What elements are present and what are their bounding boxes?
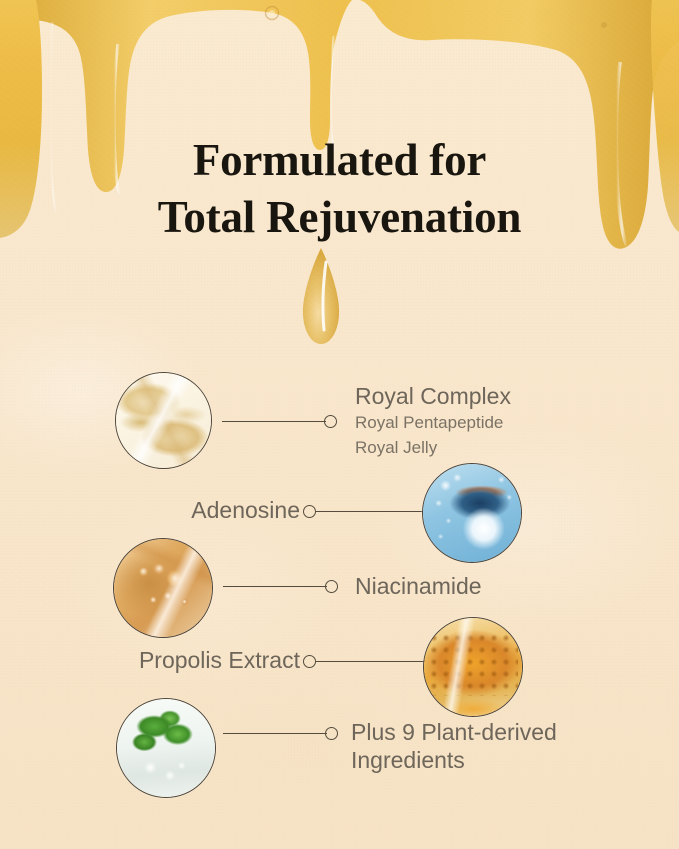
label-group-adenosine: Adenosine (118, 496, 300, 524)
label-group-plant-derived: Plus 9 Plant-derived Ingredients (351, 718, 557, 774)
label-group-royal-complex: Royal Complex Royal Pentapeptide Royal J… (355, 382, 511, 460)
connector-plant-derived (223, 723, 345, 743)
sublabel-royal-pentapeptide: Royal Pentapeptide (355, 410, 511, 435)
connector-adenosine (303, 501, 428, 521)
label-royal-complex: Royal Complex (355, 382, 511, 410)
label-adenosine: Adenosine (118, 496, 300, 524)
honey-droplet (303, 248, 339, 344)
connector-royal-complex (222, 411, 342, 431)
honeycomb-thumbnail (423, 617, 523, 717)
label-propolis-extract: Propolis Extract (60, 646, 300, 674)
connector-niacinamide (223, 576, 345, 596)
green-leaf-droplet-thumbnail (116, 698, 216, 798)
golden-bubble-serum-thumbnail (113, 538, 213, 638)
label-group-niacinamide: Niacinamide (355, 572, 482, 600)
label-niacinamide: Niacinamide (355, 572, 482, 600)
connector-propolis-extract (303, 651, 428, 671)
sublabel-royal-jelly: Royal Jelly (355, 435, 511, 460)
title-line-2: Total Rejuvenation (0, 189, 679, 246)
label-group-propolis-extract: Propolis Extract (60, 646, 300, 674)
royal-jelly-swirl-thumbnail (115, 372, 212, 469)
poster-title: Formulated for Total Rejuvenation (0, 132, 679, 246)
product-infographic-poster: Formulated for Total Rejuvenation Royal … (0, 0, 679, 849)
title-line-1: Formulated for (0, 132, 679, 189)
label-plant-derived-line-1: Plus 9 Plant-derived (351, 718, 557, 746)
blue-water-bubble-thumbnail (422, 463, 522, 563)
label-plant-derived-line-2: Ingredients (351, 746, 557, 774)
